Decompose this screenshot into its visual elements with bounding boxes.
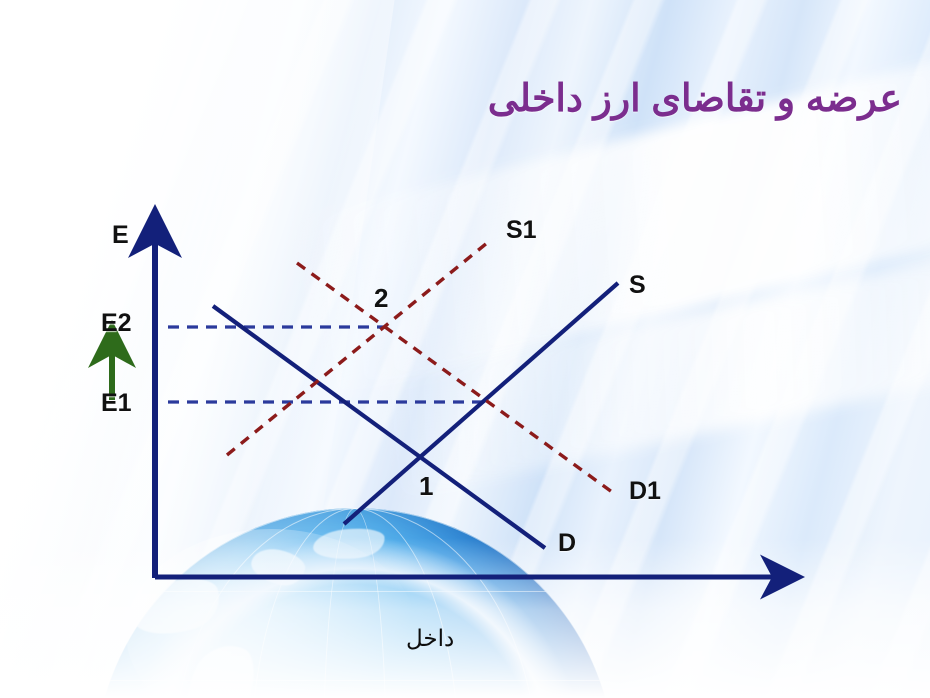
- supply-demand-chart: [0, 0, 930, 698]
- curve-label-d: D: [558, 529, 576, 558]
- slide-canvas: عرضه و تقاضای ارز داخلی: [0, 0, 930, 698]
- equilibrium-label-2: 2: [374, 283, 388, 314]
- curve-label-s1: S1: [506, 216, 537, 245]
- y-axis-label: E: [112, 221, 129, 250]
- tick-label-e2: E2: [101, 309, 132, 338]
- curve-label-s: S: [629, 271, 646, 300]
- curve-label-d1: D1: [629, 477, 661, 506]
- tick-label-e1: E1: [101, 389, 132, 418]
- chart-axes: [155, 240, 775, 578]
- equilibrium-label-1: 1: [419, 471, 433, 502]
- demand-curve-d1: [297, 263, 612, 492]
- supply-curve-s1: [227, 243, 487, 455]
- x-axis-label: داخل: [406, 625, 454, 652]
